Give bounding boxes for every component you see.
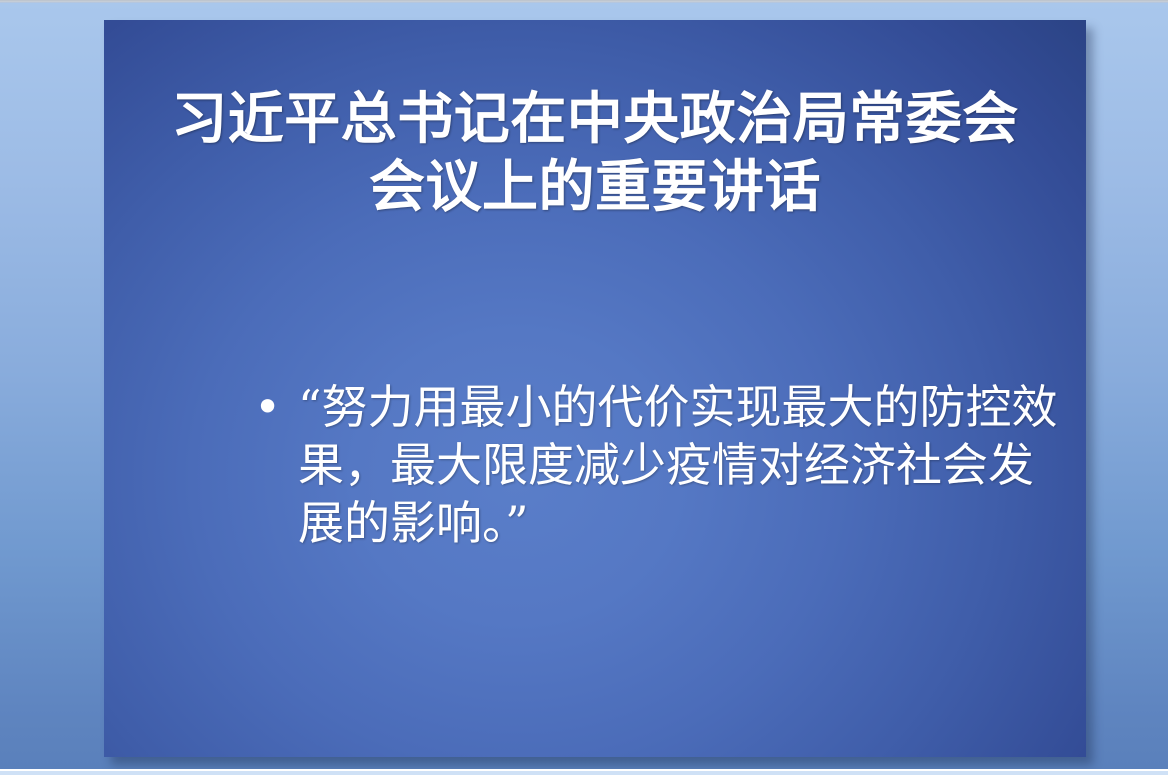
slide-title: 习近平总书记在中央政治局常委会 会议上的重要讲话 — [144, 85, 1046, 222]
slide-viewer: 习近平总书记在中央政治局常委会 会议上的重要讲话 • “努力用最小的代价实现最大… — [0, 0, 1168, 777]
slide-title-line-2: 会议上的重要讲话 — [144, 153, 1046, 221]
slide-bullet-text: “努力用最小的代价实现最大的防控效果，最大限度减少疫情对经济社会发展的影响。” — [298, 378, 1064, 552]
bullet-marker-icon: • — [254, 378, 298, 436]
presentation-slide[interactable]: 习近平总书记在中央政治局常委会 会议上的重要讲话 • “努力用最小的代价实现最大… — [104, 20, 1086, 757]
slide-bullet-item: • “努力用最小的代价实现最大的防控效果，最大限度减少疫情对经济社会发展的影响。… — [254, 378, 1064, 552]
slide-title-line-1: 习近平总书记在中央政治局常委会 — [144, 85, 1046, 153]
